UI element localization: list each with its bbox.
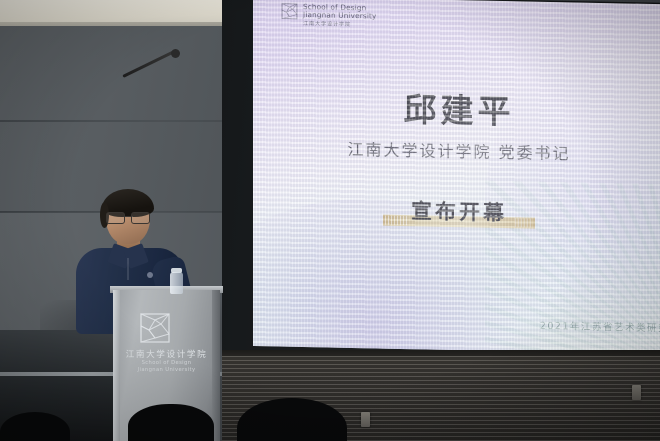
water-bottle <box>170 272 183 294</box>
microphone-head-icon <box>171 49 180 58</box>
podium-label-en1: School of Design <box>113 360 220 366</box>
audience-silhouette-2 <box>128 404 214 441</box>
lecture-hall-photo: School of Design Jiangnan University 江南大… <box>0 0 660 441</box>
podium-jiangnan-logo-icon <box>139 312 171 344</box>
screen-scanlines-vertical <box>253 0 660 354</box>
polo-placket <box>127 258 129 280</box>
wall-outlet-1 <box>361 412 370 427</box>
polo-chest-logo <box>147 272 153 278</box>
glasses-icon <box>106 212 150 222</box>
podium-label-en2: Jiangnan University <box>113 367 220 373</box>
wall-outlet-2 <box>632 385 641 400</box>
glasses-right-lens <box>131 212 150 224</box>
glasses-left-lens <box>106 212 125 224</box>
podium-label-cn: 江南大学设计学院 <box>113 348 220 360</box>
projection-screen: School of Design Jiangnan University 江南大… <box>253 0 660 354</box>
